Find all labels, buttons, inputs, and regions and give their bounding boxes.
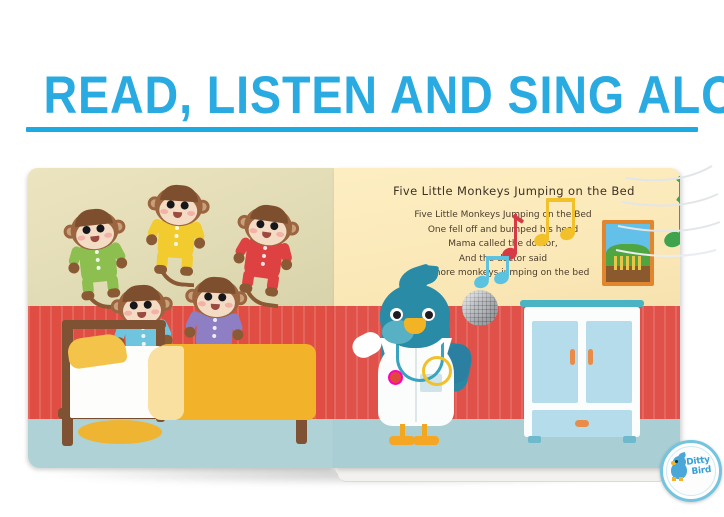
monkey-yellow bbox=[143, 184, 211, 274]
blanket-fold bbox=[148, 346, 184, 420]
music-note-yellow-icon bbox=[534, 198, 578, 252]
blanket-drape bbox=[78, 420, 162, 444]
doctor-bird bbox=[368, 278, 464, 446]
bird-pupil-left bbox=[393, 311, 401, 319]
disco-ball-icon bbox=[462, 290, 498, 326]
logo-wordmark: Ditty Bird bbox=[686, 455, 718, 478]
wardrobe-foot-left bbox=[528, 436, 541, 443]
page-title: READ, LISTEN AND SING ALONG bbox=[43, 66, 680, 126]
stethoscope-ring bbox=[422, 356, 452, 386]
title-divider bbox=[26, 127, 698, 132]
floor bbox=[28, 419, 334, 468]
book-spread: Five Little Monkeys Jumping on the Bed F… bbox=[28, 168, 696, 488]
ditty-bird-logo[interactable]: Ditty Bird bbox=[660, 440, 722, 502]
music-note-blue-icon bbox=[474, 256, 508, 290]
wardrobe-foot-right bbox=[623, 436, 636, 443]
bird-foot-right bbox=[413, 436, 439, 445]
wardrobe bbox=[524, 300, 640, 446]
book-left-page[interactable] bbox=[28, 168, 334, 468]
wardrobe-handle-left bbox=[570, 349, 575, 365]
wardrobe-handle-right bbox=[588, 349, 593, 365]
stethoscope-bell bbox=[388, 370, 403, 385]
bird-foot-left bbox=[389, 436, 415, 445]
wardrobe-drawer-knob bbox=[575, 420, 589, 427]
monkey-green bbox=[62, 207, 133, 299]
bed-headboard bbox=[62, 320, 166, 329]
slide-root: READ, LISTEN AND SING ALONG bbox=[0, 0, 724, 517]
bird-pupil-right bbox=[425, 311, 433, 319]
sound-waves bbox=[608, 160, 724, 290]
wardrobe-case bbox=[524, 307, 640, 437]
wardrobe-cornice bbox=[520, 300, 644, 307]
